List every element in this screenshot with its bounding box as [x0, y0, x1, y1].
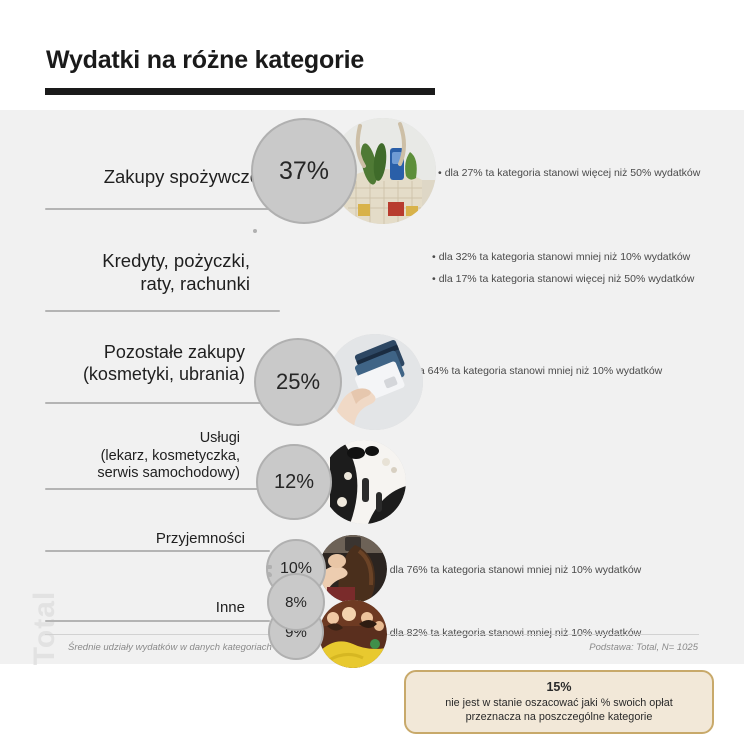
- bullet-item: •dla 76% ta kategoria stanowi mniej niż …: [383, 565, 641, 577]
- bullet-text: dla 32% ta kategoria stanowi mniej niż 1…: [439, 251, 691, 263]
- value-bubble-3: 12%: [256, 444, 332, 520]
- row-label: Pozostałe zakupy (kosmetyki, ubrania): [30, 342, 245, 386]
- row-label: Zakupy spożywcze: [30, 166, 260, 189]
- bullet-dot: •: [438, 167, 442, 179]
- cosmetics-clothes-photo: [322, 440, 406, 524]
- row-rule: [45, 550, 270, 552]
- bullet-item: •dla 27% ta kategoria stanowi więcej niż…: [438, 168, 700, 180]
- row-rule: [45, 310, 280, 312]
- row-label: Inne: [30, 599, 245, 617]
- title-underline-rule: [45, 88, 435, 95]
- callout-value: 15%: [546, 680, 571, 694]
- bullet-text: dla 27% ta kategoria stanowi więcej niż …: [445, 167, 701, 179]
- page-title: Wydatki na różne kategorie: [46, 46, 364, 75]
- value-label: 37%: [279, 157, 329, 186]
- row-rule: [45, 402, 275, 404]
- value-label: 25%: [276, 369, 320, 395]
- header: Wydatki na różne kategorie: [0, 0, 744, 110]
- total-watermark: Total: [28, 568, 62, 688]
- bullet-text: dla 82% ta kategoria stanowi mniej niż 1…: [390, 627, 642, 639]
- callout-line-2: przeznacza na poszczególne kategorie: [466, 711, 653, 725]
- value-bubble-inne-main: [267, 565, 271, 569]
- value-bubble-1: 37%: [251, 118, 357, 224]
- row-bullets-2: •dla 32% ta kategoria stanowi mniej niż …: [432, 252, 694, 295]
- chart-panel: Total Zakupy spożywcze: [0, 110, 744, 664]
- row-rule: [45, 208, 290, 210]
- bullet-item: •dla 32% ta kategoria stanowi mniej niż …: [432, 252, 694, 264]
- party-photo: [319, 600, 387, 668]
- bullet-text: dla 64% ta kategoria stanowi mniej niż 1…: [411, 365, 663, 377]
- hairdresser-photo: [319, 535, 387, 603]
- inne-value-bubble: [268, 573, 272, 577]
- callout-line-1: nie jest w stanie oszacować jaki % swoic…: [445, 697, 672, 711]
- row-rule: [45, 488, 270, 490]
- row-rule: [45, 620, 270, 622]
- value-bubble: [253, 229, 257, 233]
- row-bullets-3: •dla 64% ta kategoria stanowi mniej niż …: [404, 366, 662, 388]
- bullet-item: •dla 64% ta kategoria stanowi mniej niż …: [404, 366, 662, 378]
- bullet-text: dla 76% ta kategoria stanowi mniej niż 1…: [390, 564, 642, 576]
- value-bubble-inne-visible: 8%: [267, 573, 325, 631]
- bullet-dot: •: [432, 251, 436, 263]
- bullet-text: dla 17% ta kategoria stanowi więcej niż …: [439, 273, 695, 285]
- value-label: 12%: [274, 471, 314, 494]
- value-label: 8%: [285, 594, 307, 611]
- footer-note-left: Średnie udziały wydatków w danych katego…: [68, 642, 272, 653]
- row-label: Usługi (lekarz, kosmetyczka, serwis samo…: [30, 430, 240, 483]
- row-label: Przyjemności: [30, 530, 245, 548]
- row-bullets-4: •dla 76% ta kategoria stanowi mniej niż …: [383, 565, 641, 587]
- bullet-item: •dla 17% ta kategoria stanowi więcej niż…: [432, 274, 694, 286]
- row-bullets-1: •dla 27% ta kategoria stanowi więcej niż…: [438, 168, 700, 190]
- bullet-dot: •: [432, 273, 436, 285]
- callout-box: 15% nie jest w stanie oszacować jaki % s…: [404, 670, 714, 734]
- footer-note-right: Podstawa: Total, N= 1025: [589, 642, 698, 653]
- row-label: Kredyty, pożyczki, raty, rachunki: [30, 250, 250, 295]
- value-bubble-2: 25%: [254, 338, 342, 426]
